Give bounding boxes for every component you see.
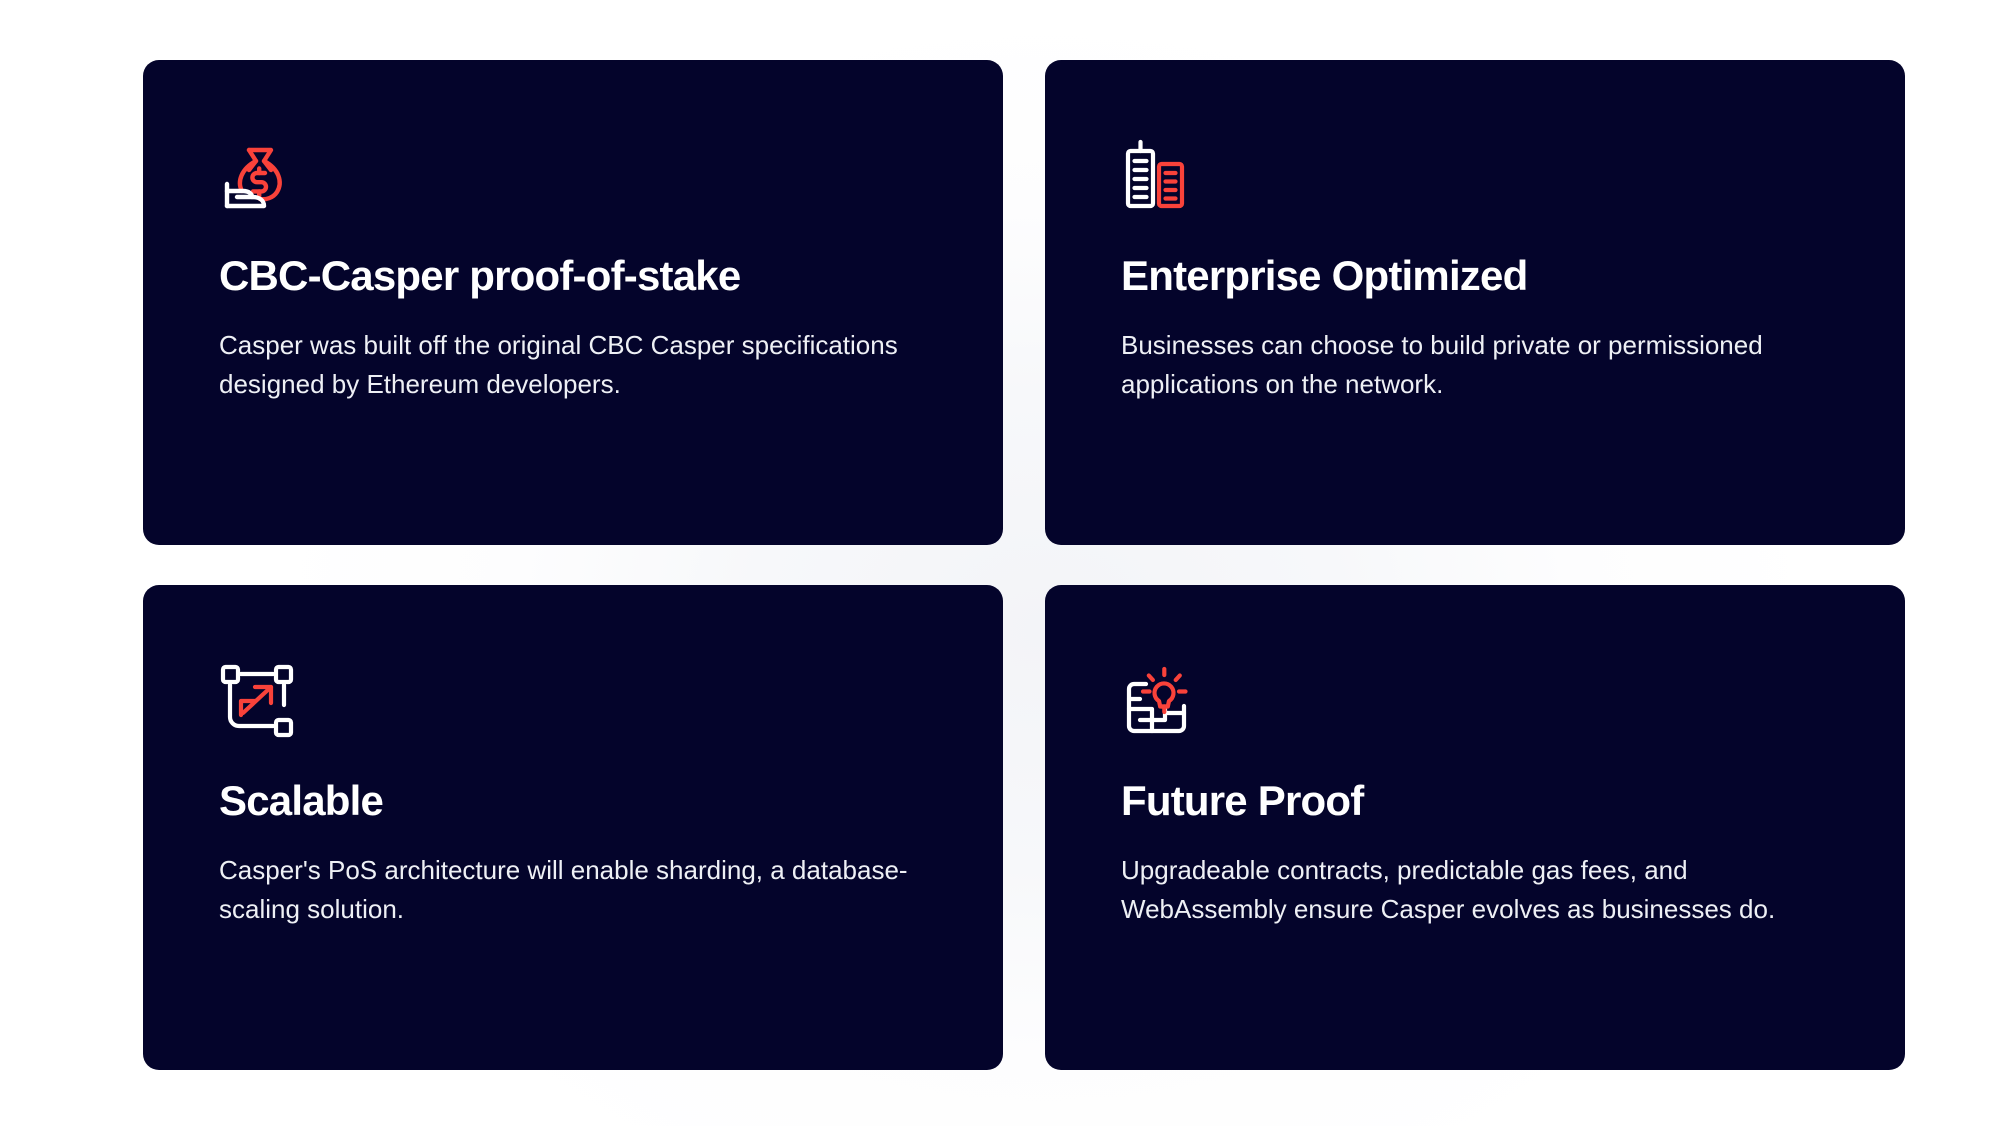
- scale-expand-arrow-icon: [219, 663, 295, 739]
- card-title: Scalable: [219, 777, 927, 825]
- feature-card-grid: CBC-Casper proof-of-stake Casper was bui…: [143, 60, 1905, 1070]
- office-buildings-icon: [1121, 138, 1197, 214]
- card-body: Casper was built off the original CBC Ca…: [219, 326, 909, 405]
- card-body: Casper's PoS architecture will enable sh…: [219, 851, 909, 930]
- feature-card-future-proof[interactable]: Future Proof Upgradeable contracts, pred…: [1045, 585, 1905, 1070]
- blueprint-lightbulb-icon: [1121, 663, 1197, 739]
- card-body: Businesses can choose to build private o…: [1121, 326, 1811, 405]
- card-title: CBC-Casper proof-of-stake: [219, 252, 927, 300]
- feature-cards-page: CBC-Casper proof-of-stake Casper was bui…: [0, 0, 2010, 1126]
- card-body: Upgradeable contracts, predictable gas f…: [1121, 851, 1811, 930]
- card-title: Enterprise Optimized: [1121, 252, 1829, 300]
- feature-card-enterprise-optimized[interactable]: Enterprise Optimized Businesses can choo…: [1045, 60, 1905, 545]
- feature-card-cbc-casper[interactable]: CBC-Casper proof-of-stake Casper was bui…: [143, 60, 1003, 545]
- money-bag-in-hand-icon: [219, 138, 295, 214]
- feature-card-scalable[interactable]: Scalable Casper's PoS architecture will …: [143, 585, 1003, 1070]
- card-title: Future Proof: [1121, 777, 1829, 825]
